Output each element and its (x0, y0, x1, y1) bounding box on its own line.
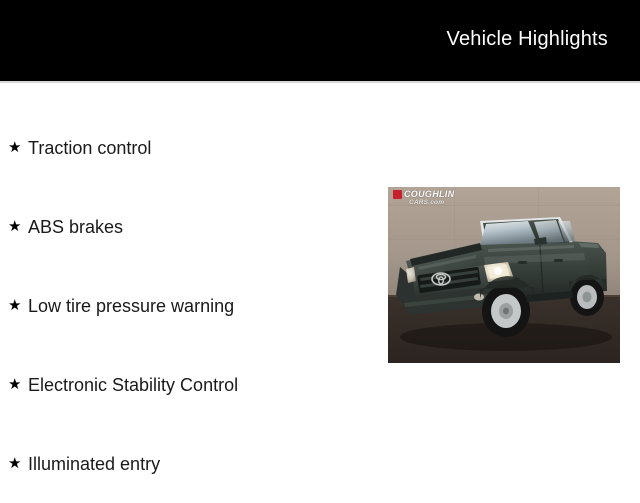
highlight-label: Low tire pressure warning (28, 297, 234, 315)
vehicle-photo: COUGHLIN CARS.com (388, 187, 620, 363)
star-bullet-icon: ★ (8, 456, 28, 471)
content-area: ★ Traction control ★ ABS brakes ★ Low ti… (0, 83, 640, 480)
vehicle-highlights-list: ★ Traction control ★ ABS brakes ★ Low ti… (8, 108, 380, 503)
vehicle-photo-illustration (388, 187, 620, 363)
page-header: Vehicle Highlights (0, 0, 640, 81)
list-item: ★ ABS brakes (8, 187, 380, 266)
star-bullet-icon: ★ (8, 140, 28, 155)
highlight-label: ABS brakes (28, 218, 123, 236)
list-item: ★ Illuminated entry (8, 424, 380, 503)
list-item: ★ Traction control (8, 108, 380, 187)
highlight-label: Illuminated entry (28, 455, 160, 473)
list-item: ★ Electronic Stability Control (8, 345, 380, 424)
star-bullet-icon: ★ (8, 219, 28, 234)
highlight-label: Electronic Stability Control (28, 376, 238, 394)
page-title: Vehicle Highlights (447, 28, 608, 51)
list-item: ★ Low tire pressure warning (8, 266, 380, 345)
star-bullet-icon: ★ (8, 298, 28, 313)
highlight-label: Traction control (28, 139, 151, 157)
star-bullet-icon: ★ (8, 377, 28, 392)
